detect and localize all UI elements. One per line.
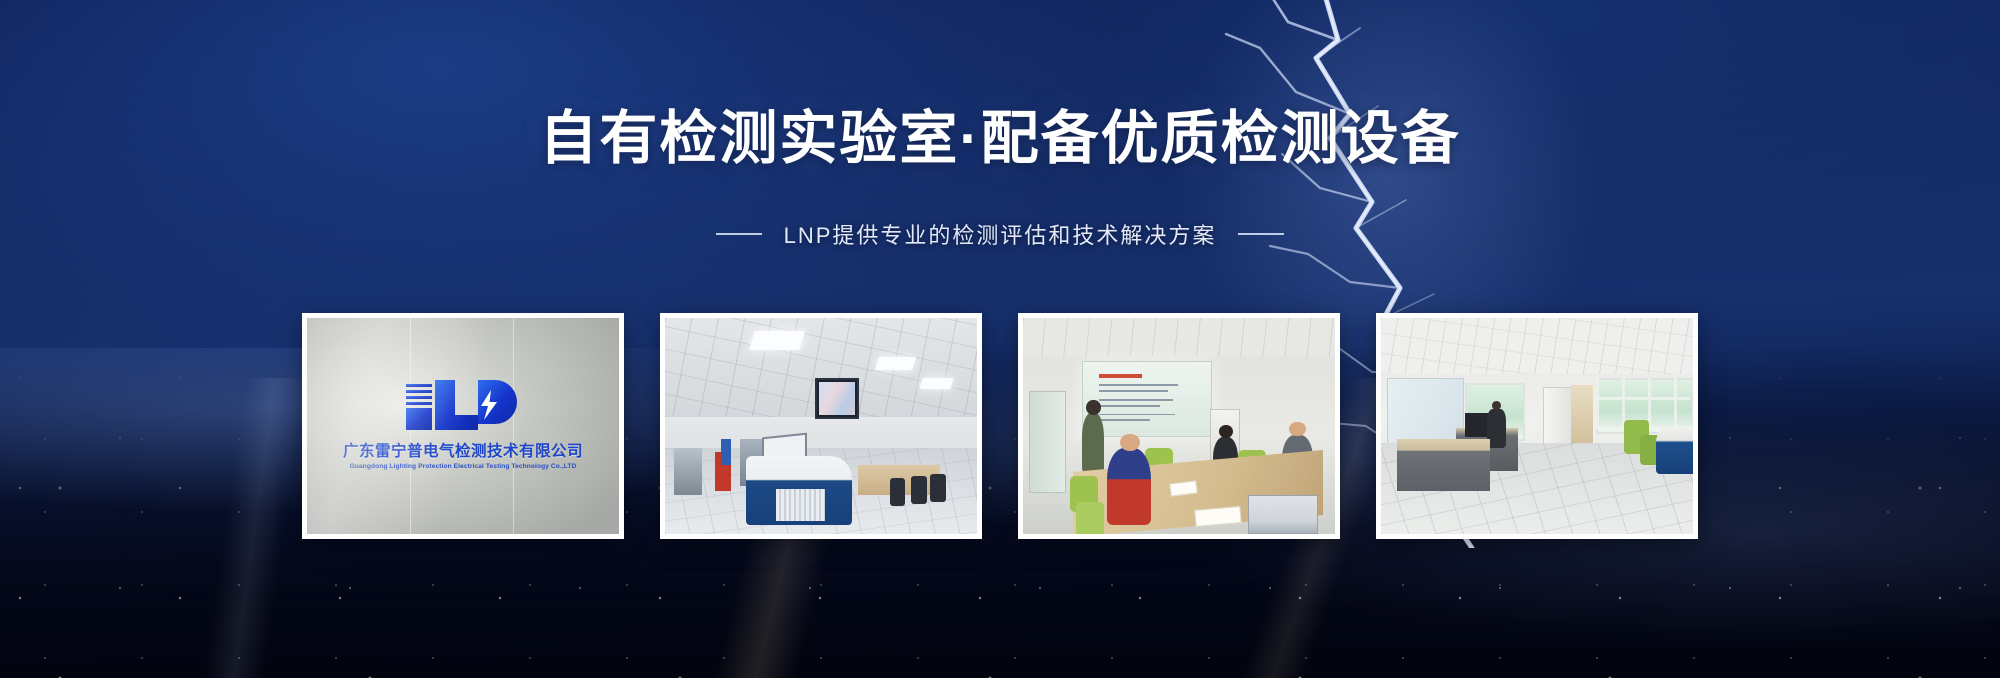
banner-subtitle: LNP提供专业的检测评估和技术解决方案 <box>784 218 1217 250</box>
ceiling-grid <box>1023 318 1335 357</box>
office-chair <box>911 476 927 504</box>
documents <box>1194 506 1241 527</box>
banner-headline: 自有检测实验室·配备优质检测设备 <box>0 106 2000 173</box>
ceiling-light <box>875 357 916 370</box>
gallery-strip: 广东雷宁普电气检测技术有限公司 Guangdong Lighting Prote… <box>0 313 2000 539</box>
control-console <box>746 456 852 525</box>
dash-left-icon <box>716 233 762 235</box>
banner-subtitle-row: LNP提供专业的检测评估和技术解决方案 <box>0 218 2000 250</box>
gallery-item-training-meeting-room[interactable] <box>1018 313 1340 539</box>
frosted-door <box>1029 391 1065 492</box>
dash-right-icon <box>1238 233 1284 235</box>
hero-banner: 自有检测实验室·配备优质检测设备 LNP提供专业的检测评估和技术解决方案 <box>0 0 2000 678</box>
photo-office-area <box>1381 318 1693 534</box>
gallery-item-testing-laboratory[interactable] <box>660 313 982 539</box>
photo-training-meeting-room <box>1023 318 1335 534</box>
office-chair <box>890 478 906 506</box>
meeting-chair <box>1076 502 1104 534</box>
reception-counter <box>1656 426 1693 474</box>
gallery-item-office-area[interactable] <box>1376 313 1698 539</box>
attendee <box>1107 448 1151 526</box>
laptop <box>1248 495 1319 534</box>
ceiling-grid <box>1381 318 1693 374</box>
photo-testing-laboratory <box>665 318 977 534</box>
ceiling-light <box>750 331 805 350</box>
test-equipment <box>674 448 702 496</box>
office-desk <box>1397 439 1491 491</box>
gallery-item-company-signage[interactable]: 广东雷宁普电气检测技术有限公司 Guangdong Lighting Prote… <box>302 313 624 539</box>
presenter <box>1082 413 1104 473</box>
wall-monitor <box>815 378 860 419</box>
test-equipment <box>721 439 730 465</box>
office-chair <box>930 474 946 502</box>
photo-company-signage: 广东雷宁普电气检测技术有限公司 Guangdong Lighting Prote… <box>307 318 619 534</box>
ceiling-light <box>919 378 953 389</box>
